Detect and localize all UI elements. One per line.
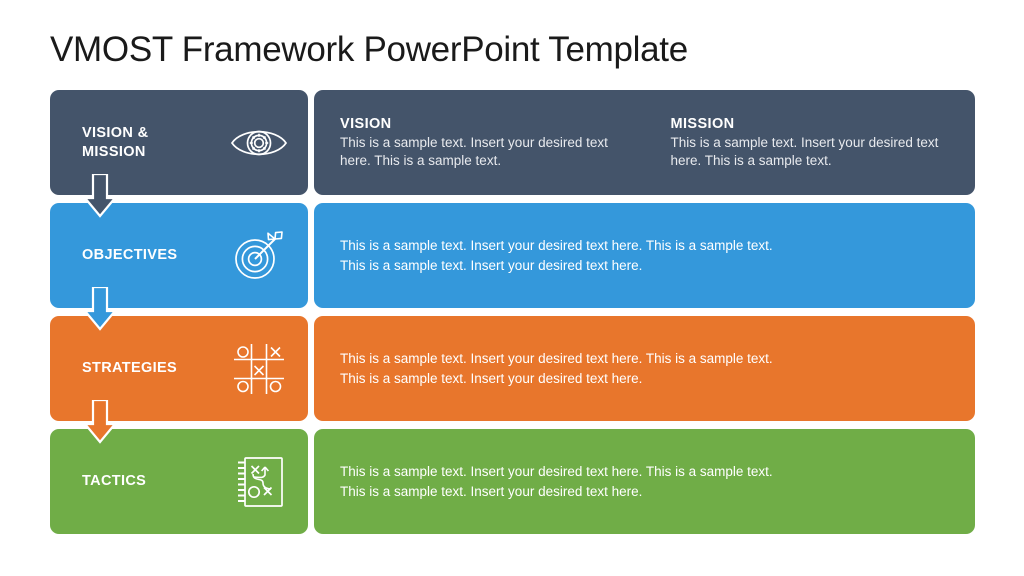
slide-canvas: VMOST Framework PowerPoint Template VISI… [0,0,1024,576]
row-objectives: OBJECTIVES This is a sample text. Insert… [0,203,1024,308]
body-objectives[interactable]: This is a sample text. Insert your desir… [340,236,800,274]
label-text-strategies: STRATEGIES [82,359,177,377]
page-title: VMOST Framework PowerPoint Template [50,30,688,70]
label-text-tactics: TACTICS [82,472,146,490]
heading-vision: VISION [340,116,619,132]
label-panel-objectives[interactable]: OBJECTIVES [50,203,308,308]
body-vision[interactable]: This is a sample text. Insert your desir… [340,134,619,170]
row-tactics: TACTICS This is a samp [0,429,1024,534]
vmost-rows: VISION & MISSION VISION This is a sa [0,90,1024,542]
eye-gear-icon [228,115,290,171]
label-panel-tactics[interactable]: TACTICS [50,429,308,534]
content-panel-tactics: This is a sample text. Insert your desir… [314,429,975,534]
playbook-icon [228,454,290,510]
content-panel-vision-mission: VISION This is a sample text. Insert you… [314,90,975,195]
content-panel-strategies: This is a sample text. Insert your desir… [314,316,975,421]
label-text-vision-mission: VISION & MISSION [82,124,148,160]
content-column-vision: VISION This is a sample text. Insert you… [340,116,619,170]
row-strategies: STRATEGIES This is a sample text. Insert… [0,316,1024,421]
tic-tac-toe-icon [228,341,290,397]
label-panel-vision-mission[interactable]: VISION & MISSION [50,90,308,195]
label-panel-strategies[interactable]: STRATEGIES [50,316,308,421]
heading-mission: MISSION [671,116,950,132]
label-text-objectives: OBJECTIVES [82,246,177,264]
target-arrow-icon [228,228,290,284]
content-column-mission: MISSION This is a sample text. Insert yo… [671,116,950,170]
body-tactics[interactable]: This is a sample text. Insert your desir… [340,462,800,500]
content-panel-objectives: This is a sample text. Insert your desir… [314,203,975,308]
body-mission[interactable]: This is a sample text. Insert your desir… [671,134,950,170]
body-strategies[interactable]: This is a sample text. Insert your desir… [340,349,800,387]
row-vision-mission: VISION & MISSION VISION This is a sa [0,90,1024,195]
